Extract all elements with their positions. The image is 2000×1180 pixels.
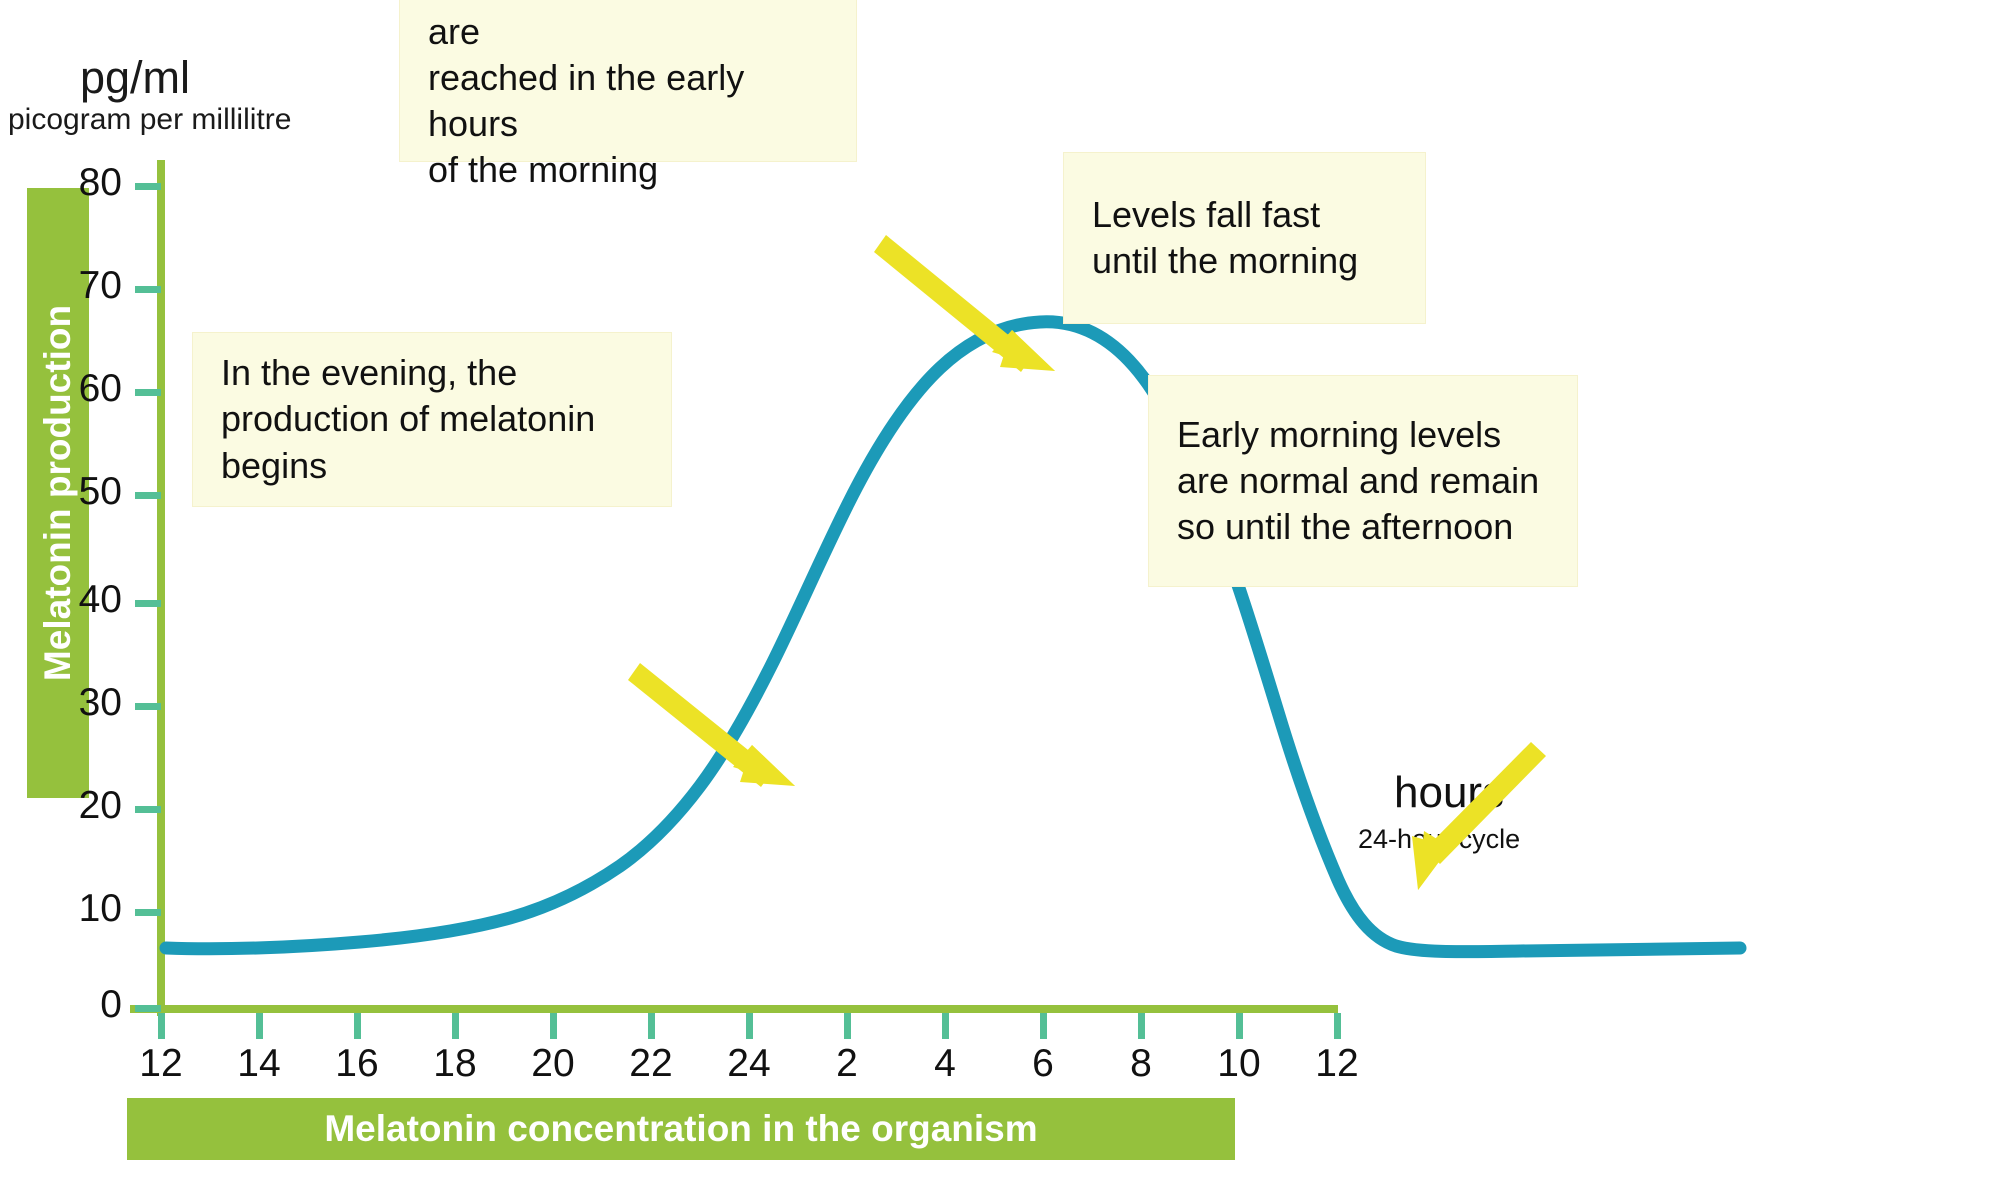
callout-evening-onset: In the evening, the production of melato… [192,332,672,507]
y-tick-mark-60 [135,389,161,396]
y-tick-label-60: 60 [42,367,122,411]
x-tick-mark-2 [354,1013,361,1039]
x-tick-mark-4 [550,1013,557,1039]
callout-fall-fast-text: Levels fall fast until the morning [1064,192,1386,284]
callout-evening-onset-text: In the evening, the production of melato… [193,350,623,488]
callout-fall-fast: Levels fall fast until the morning [1063,152,1426,324]
x-tick-label-2: 16 [317,1042,397,1086]
x-axis-title-text: Melatonin concentration in the organism [324,1108,1037,1150]
y-tick-mark-10 [135,909,161,916]
y-tick-label-70: 70 [42,264,122,308]
x-tick-mark-7 [844,1013,851,1039]
unit-main-label: pg/ml [80,52,190,104]
y-tick-label-50: 50 [42,470,122,514]
x-tick-label-6: 24 [709,1042,789,1086]
x-tick-label-10: 8 [1101,1042,1181,1086]
x-tick-mark-5 [648,1013,655,1039]
y-tick-mark-20 [135,806,161,813]
y-tick-mark-30 [135,703,161,710]
y-tick-label-20: 20 [42,784,122,828]
callout-peak: Peak melatonin levels are reached in the… [399,0,857,162]
annotation-arrow-peak [874,235,1055,372]
x-tick-mark-6 [746,1013,753,1039]
x-tick-label-3: 18 [415,1042,495,1086]
x-tick-label-1: 14 [219,1042,299,1086]
x-tick-label-11: 10 [1199,1042,1279,1086]
x-tick-mark-8 [942,1013,949,1039]
y-tick-label-80: 80 [42,161,122,205]
x-tick-label-7: 2 [807,1042,887,1086]
x-tick-label-8: 4 [905,1042,985,1086]
y-tick-label-0: 0 [42,983,122,1027]
y-tick-mark-50 [135,492,161,499]
x-tick-mark-1 [256,1013,263,1039]
x-tick-mark-10 [1138,1013,1145,1039]
chart-overlay [0,0,2000,1180]
y-tick-mark-80 [135,183,161,190]
x-axis-line [130,1005,1338,1013]
x-tick-mark-12 [1334,1013,1341,1039]
y-tick-label-30: 30 [42,681,122,725]
y-tick-mark-70 [135,286,161,293]
y-tick-label-10: 10 [42,887,122,931]
melatonin-chart-figure: pg/ml picogram per millilitre Melatonin … [0,0,2000,1180]
callout-early-morning: Early morning levels are normal and rema… [1148,375,1578,587]
x-axis-title-bar: Melatonin concentration in the organism [127,1098,1235,1160]
x-tick-mark-9 [1040,1013,1047,1039]
callout-peak-text: Peak melatonin levels are reached in the… [400,0,856,193]
y-tick-mark-0 [135,1005,161,1012]
annotation-arrow-evening [628,663,795,787]
x-tick-label-0: 12 [121,1042,201,1086]
x-tick-label-12: 12 [1297,1042,1377,1086]
x-tick-mark-3 [452,1013,459,1039]
callout-early-morning-text: Early morning levels are normal and rema… [1149,412,1567,550]
x-tick-mark-0 [158,1013,165,1039]
y-tick-mark-40 [135,600,161,607]
y-tick-label-40: 40 [42,578,122,622]
x-tick-label-9: 6 [1003,1042,1083,1086]
x-tick-mark-11 [1236,1013,1243,1039]
x-tick-label-4: 20 [513,1042,593,1086]
unit-sub-label: picogram per millilitre [8,103,291,137]
x-tick-label-5: 22 [611,1042,691,1086]
x-axis-cycle-label: 24-hour cycle [1358,824,1520,855]
x-axis-unit-label: hours [1394,768,1504,818]
